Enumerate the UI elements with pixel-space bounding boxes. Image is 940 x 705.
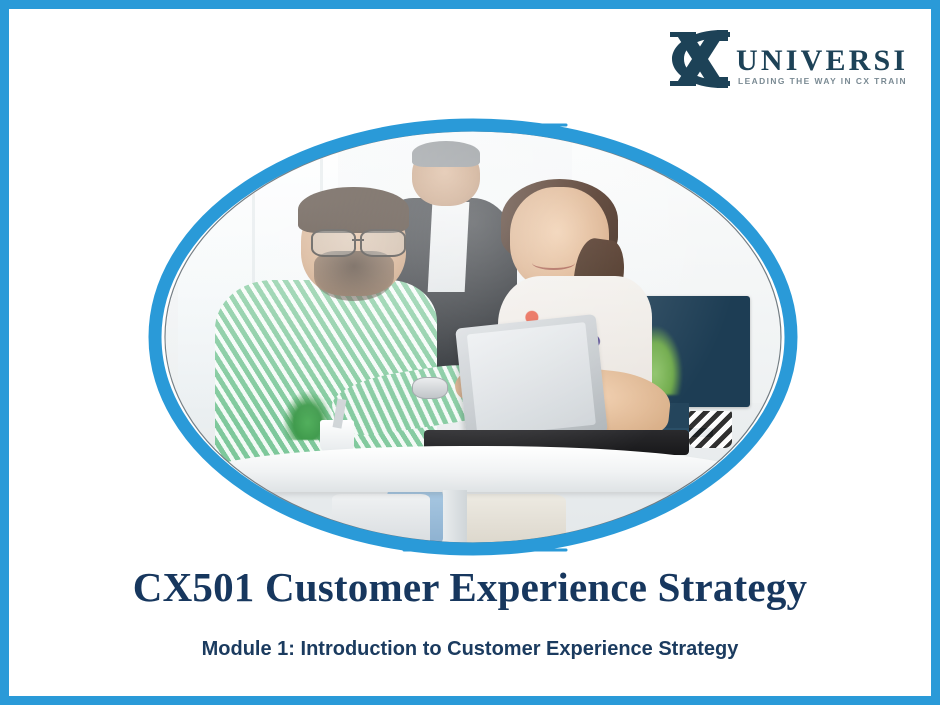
frame-border-bottom [0,696,940,705]
presentation-slide: UNIVERSITY LEADING THE WAY IN CX TRAININ… [0,0,940,705]
frame-border-top [0,0,940,9]
hero-photo [166,132,781,543]
page-subtitle: Module 1: Introduction to Customer Exper… [0,638,940,661]
logo-wordmark: UNIVERSITY [736,44,907,77]
page-title: CX501 Customer Experience Strategy [0,566,940,609]
hero-photo-oval [146,110,801,565]
logo-tagline: LEADING THE WAY IN CX TRAINING [738,76,907,86]
cx-monogram-icon [670,30,730,88]
cx-university-logo: UNIVERSITY LEADING THE WAY IN CX TRAININ… [662,20,907,98]
